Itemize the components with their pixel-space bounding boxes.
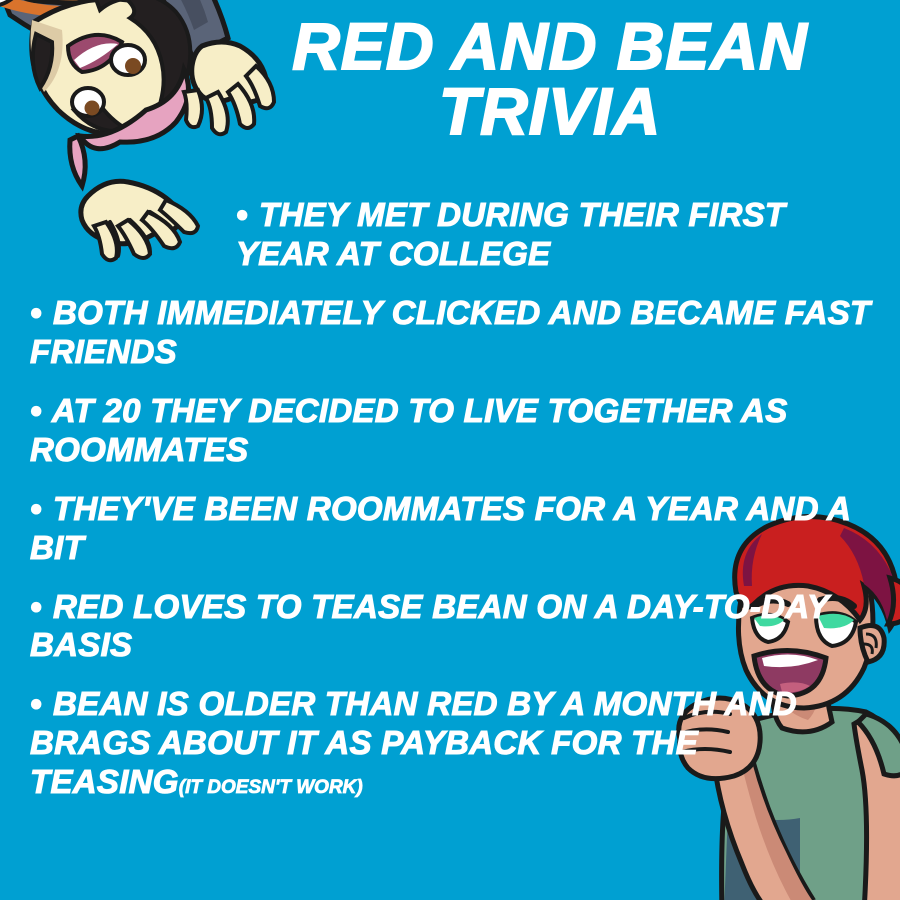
bullet-marker: • [30, 392, 44, 429]
list-item-text: AT 20 THEY DECIDED TO LIVE TOGETHER AS R… [30, 392, 788, 468]
list-item-text: THEY MET DURING THEIR FIRST YEAR AT COLL… [236, 196, 785, 272]
bean-eye-right [111, 45, 145, 75]
list-item: • THEY MET DURING THEIR FIRST YEAR AT CO… [0, 196, 900, 274]
list-item-text: BOTH IMMEDIATELY CLICKED AND BECAME FAST… [30, 294, 870, 370]
list-item-aside: (IT DOESN'T WORK) [179, 777, 363, 798]
bullet-marker: • [236, 196, 250, 233]
list-item: • RED LOVES TO TEASE BEAN ON A DAY-TO-DA… [0, 588, 900, 666]
page-title: RED AND BEAN TRIVIA [210, 14, 890, 143]
trivia-list: • THEY MET DURING THEIR FIRST YEAR AT CO… [0, 196, 900, 822]
bullet-marker: • [30, 685, 44, 722]
list-item: • BEAN IS OLDER THAN RED BY A MONTH AND … [0, 685, 900, 802]
trivia-poster: RED AND BEAN TRIVIA • THEY MET DURING TH… [0, 0, 900, 900]
list-item: • THEY'VE BEEN ROOMMATES FOR A YEAR AND … [0, 490, 900, 568]
bean-eye-left [72, 88, 104, 116]
bean-head [31, 0, 191, 186]
list-item-text: RED LOVES TO TEASE BEAN ON A DAY-TO-DAY … [30, 588, 829, 664]
bullet-marker: • [30, 588, 44, 625]
list-item: • BOTH IMMEDIATELY CLICKED AND BECAME FA… [0, 294, 900, 372]
bullet-marker: • [30, 294, 44, 331]
list-item-text: THEY'VE BEEN ROOMMATES FOR A YEAR AND A … [30, 490, 850, 566]
bullet-marker: • [30, 490, 44, 527]
list-item-text: BEAN IS OLDER THAN RED BY A MONTH AND BR… [30, 685, 797, 800]
list-item: • AT 20 THEY DECIDED TO LIVE TOGETHER AS… [0, 392, 900, 470]
